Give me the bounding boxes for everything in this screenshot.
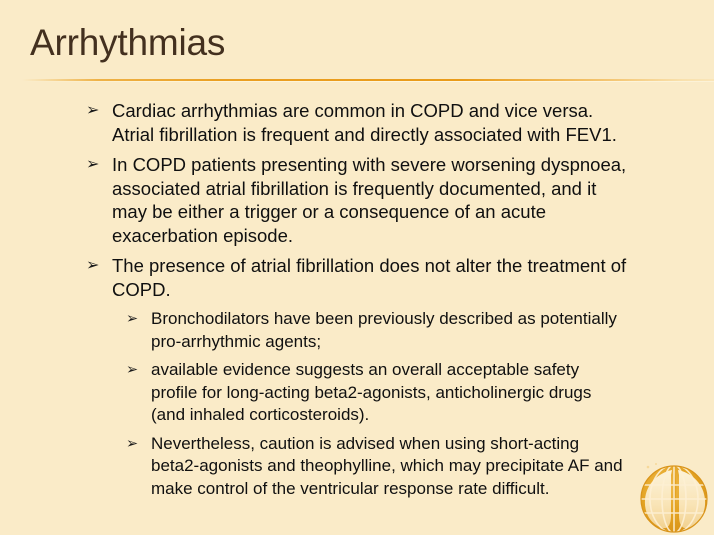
bullet-text: The presence of atrial fibrillation does… <box>112 254 628 301</box>
sub-bullet-item: ➢ Bronchodilators have been previously d… <box>126 308 644 353</box>
bullet-arrow-icon: ➢ <box>86 153 112 177</box>
sparkle-dot-icon <box>647 466 650 469</box>
bullet-text: Cardiac arrhythmias are common in COPD a… <box>112 99 628 146</box>
bullet-arrow-icon: ➢ <box>126 308 151 331</box>
slide-canvas: Arrhythmias ➢ Cardiac arrhythmias are co… <box>0 0 714 535</box>
slide-title-area: Arrhythmias <box>0 0 714 84</box>
globe-grid-lines <box>635 464 713 534</box>
sub-bullet-item: ➢ available evidence suggests an overall… <box>126 359 644 427</box>
sparkle-dot-icon <box>655 463 657 465</box>
slide-body: ➢ Cardiac arrhythmias are common in COPD… <box>0 99 714 506</box>
bullet-arrow-icon: ➢ <box>86 254 112 278</box>
bullet-item: ➢ The presence of atrial fibrillation do… <box>86 254 628 301</box>
bullet-arrow-icon: ➢ <box>126 433 151 456</box>
sub-bullet-text: Bronchodilators have been previously des… <box>151 308 629 353</box>
sub-bullet-item: ➢ Nevertheless, caution is advised when … <box>126 433 644 501</box>
sub-bullet-text: Nevertheless, caution is advised when us… <box>151 433 629 501</box>
bullet-arrow-icon: ➢ <box>86 99 112 123</box>
globe-lungs-logo <box>632 455 714 535</box>
sub-bullet-text: available evidence suggests an overall a… <box>151 359 629 427</box>
page-title: Arrhythmias <box>30 20 225 66</box>
bullet-item: ➢ Cardiac arrhythmias are common in COPD… <box>86 99 628 146</box>
bullet-item: ➢ In COPD patients presenting with sever… <box>86 153 628 247</box>
title-divider-highlight <box>22 81 714 82</box>
bullet-text: In COPD patients presenting with severe … <box>112 153 628 247</box>
bullet-arrow-icon: ➢ <box>126 359 151 382</box>
